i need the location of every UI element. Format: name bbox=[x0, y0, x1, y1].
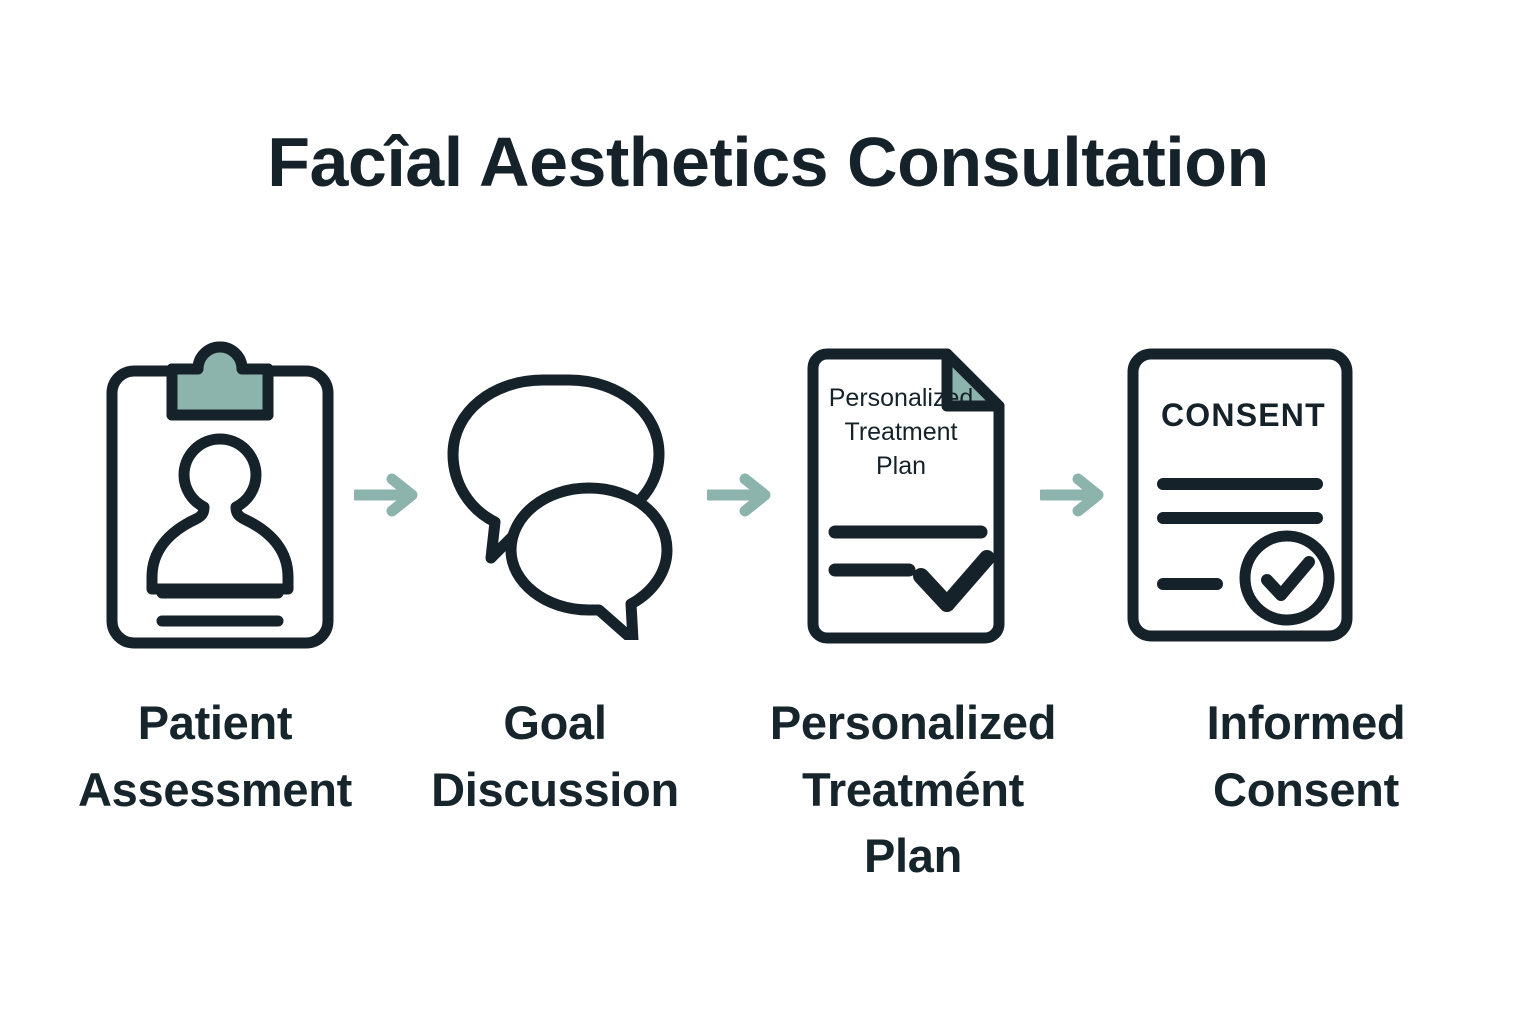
process-flow: Personalized Treatment Plan CONSENT bbox=[96, 325, 1440, 665]
consent-heading: CONSENT bbox=[1161, 397, 1326, 433]
diagram-canvas: Facîal Aesthetics Consultation bbox=[0, 0, 1536, 1024]
step-icon-patient-assessment[interactable] bbox=[96, 335, 344, 655]
step-labels: Patient Assessment Goal Discussion Perso… bbox=[40, 690, 1496, 900]
step-label-goal-discussion: Goal Discussion bbox=[390, 690, 720, 823]
flow-arrow-1 bbox=[344, 471, 430, 519]
arrow-right-icon bbox=[707, 471, 773, 519]
step-label-informed-consent: Informed Consent bbox=[1116, 690, 1496, 823]
flow-arrow-3 bbox=[1030, 471, 1116, 519]
step-icon-informed-consent[interactable]: CONSENT bbox=[1116, 335, 1364, 655]
flow-arrow-2 bbox=[698, 471, 782, 519]
arrow-right-icon bbox=[354, 471, 420, 519]
doc-text-line-2: Treatment bbox=[844, 418, 957, 446]
step-label-line: Plan bbox=[730, 823, 1096, 890]
step-icon-treatment-plan[interactable]: Personalized Treatment Plan bbox=[782, 335, 1030, 655]
step-label-line: Consent bbox=[1116, 757, 1496, 824]
step-label-line: Informed bbox=[1116, 690, 1496, 757]
clipboard-person-icon bbox=[100, 335, 340, 655]
step-label-line: Discussion bbox=[390, 757, 720, 824]
step-label-line: Treatmént bbox=[730, 757, 1096, 824]
document-folded-corner-check-icon: Personalized Treatment Plan bbox=[791, 340, 1021, 650]
step-label-patient-assessment: Patient Assessment bbox=[40, 690, 390, 823]
consent-document-check-icon: CONSENT bbox=[1121, 340, 1359, 650]
step-label-treatment-plan: Personalized Treatmént Plan bbox=[730, 690, 1096, 890]
doc-text-line-3: Plan bbox=[876, 452, 926, 480]
step-label-line: Patient bbox=[40, 690, 390, 757]
step-label-line: Personalized bbox=[730, 690, 1096, 757]
page-title: Facîal Aesthetics Consultation bbox=[0, 124, 1536, 201]
doc-text-line-1: Personalized bbox=[829, 384, 974, 412]
step-icon-goal-discussion[interactable] bbox=[430, 335, 698, 655]
step-label-line: Goal bbox=[390, 690, 720, 757]
speech-bubbles-icon bbox=[433, 350, 695, 640]
arrow-right-icon bbox=[1040, 471, 1106, 519]
step-label-line: Assessment bbox=[40, 757, 390, 824]
